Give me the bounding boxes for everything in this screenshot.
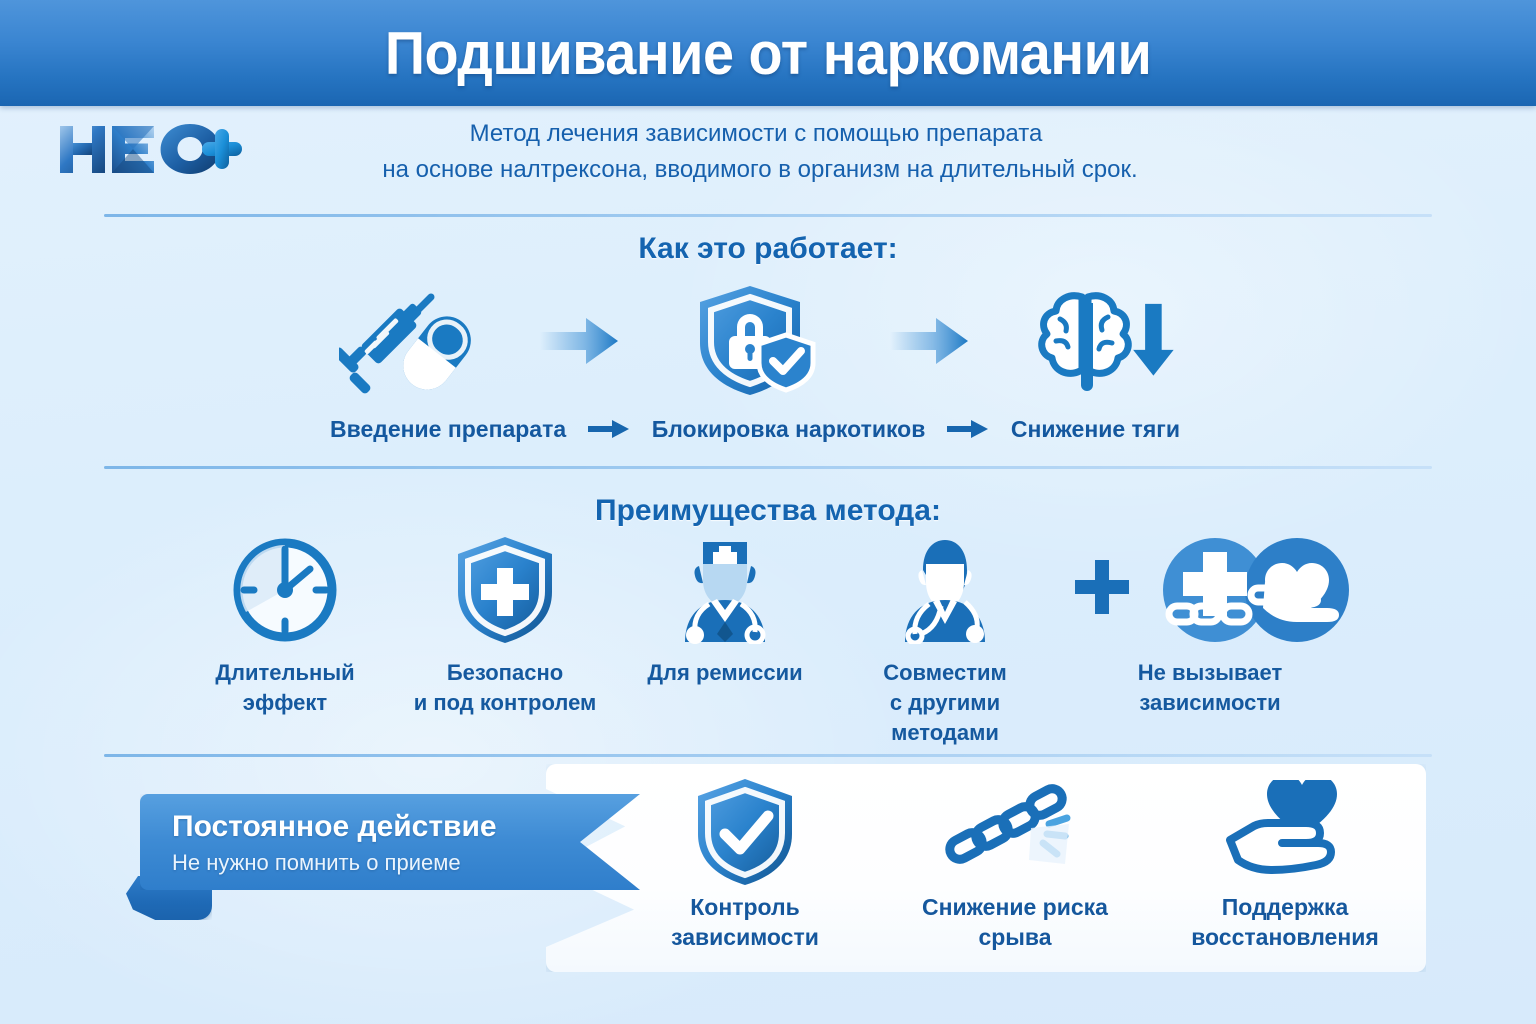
benefits-row: Длительный эффект Безопасно и под контро… [180, 536, 1360, 746]
benefit-label: Длительный эффект [180, 658, 390, 718]
shield-cross-icon [453, 536, 557, 644]
arrow-right-icon [537, 311, 623, 371]
brand-row: Метод лечения зависимости с помощью преп… [0, 106, 1536, 214]
benefit-item: Длительный эффект [180, 536, 390, 718]
shield-lock-check-icon [680, 282, 830, 400]
flow-step-label-2: Блокировка наркотиков [652, 416, 926, 443]
bottom-item: Контроль зависимости [620, 778, 870, 952]
shield-check-icon [693, 778, 797, 886]
arrow-right-icon [945, 418, 991, 440]
bottom-items-row: Контроль зависимости [610, 778, 1420, 968]
hand-heart-icon [1224, 778, 1346, 886]
flow-step-label-1: Введение препарата [330, 416, 566, 443]
intro-line-1: Метод лечения зависимости с помощью преп… [272, 116, 1240, 152]
bottom-item-label: Поддержка восстановления [1191, 892, 1379, 952]
brain-down-arrow-icon [1030, 282, 1180, 400]
syringe-pill-icon [330, 282, 480, 400]
benefit-label: Не вызывает зависимости [1138, 658, 1282, 718]
ribbon-text-block: Постоянное действие Не нужно помнить о п… [172, 810, 592, 876]
bottom-item-label: Снижение риска срыва [890, 892, 1140, 952]
doctor-stethoscope-icon [889, 536, 1001, 644]
how-it-works-heading: Как это работает: [0, 232, 1536, 266]
section-divider [104, 466, 1432, 469]
broken-chain-heart-hand-icon [1060, 536, 1360, 644]
benefit-item: Не вызывает зависимости [1060, 536, 1360, 718]
bottom-item-label: Контроль зависимости [620, 892, 870, 952]
intro-text: Метод лечения зависимости с помощью преп… [280, 116, 1240, 188]
benefit-label: Безопасно и под контролем [414, 658, 597, 718]
bottom-item: Снижение риска срыва [890, 778, 1140, 952]
section-divider [104, 214, 1432, 217]
section-divider [104, 754, 1432, 757]
bottom-item: Поддержка восстановления [1160, 778, 1410, 952]
benefit-item: Для ремиссии [620, 536, 830, 688]
how-it-works-icon-row [330, 282, 1180, 400]
doctor-nurse-icon [669, 536, 781, 644]
flow-step-label-3: Снижение тяги [1011, 416, 1180, 443]
benefit-item: Безопасно и под контролем [400, 536, 610, 718]
benefit-label: Совместим с другими методами [883, 658, 1007, 748]
benefit-label: Для ремиссии [647, 658, 802, 688]
ribbon-title: Постоянное действие [172, 810, 592, 844]
infographic-poster: Подшивание от наркомании [0, 0, 1536, 1024]
poster-header: Подшивание от наркомании [0, 0, 1536, 106]
clock-icon [232, 536, 338, 644]
intro-line-2: на основе налтрексона, вводимого в орган… [280, 152, 1240, 188]
ribbon-subtitle: Не нужно помнить о приеме [172, 850, 592, 876]
how-it-works-label-row: Введение препарата Блокировка наркотиков… [330, 408, 1180, 450]
arrow-right-icon [586, 418, 632, 440]
poster-title: Подшивание от наркомании [385, 19, 1151, 88]
neo-plus-logo-icon [48, 118, 248, 180]
benefits-heading: Преимущества метода: [0, 494, 1536, 528]
arrow-right-icon [887, 311, 973, 371]
breaking-chain-icon [945, 778, 1085, 886]
benefit-item: Совместим с другими методами [840, 536, 1050, 748]
